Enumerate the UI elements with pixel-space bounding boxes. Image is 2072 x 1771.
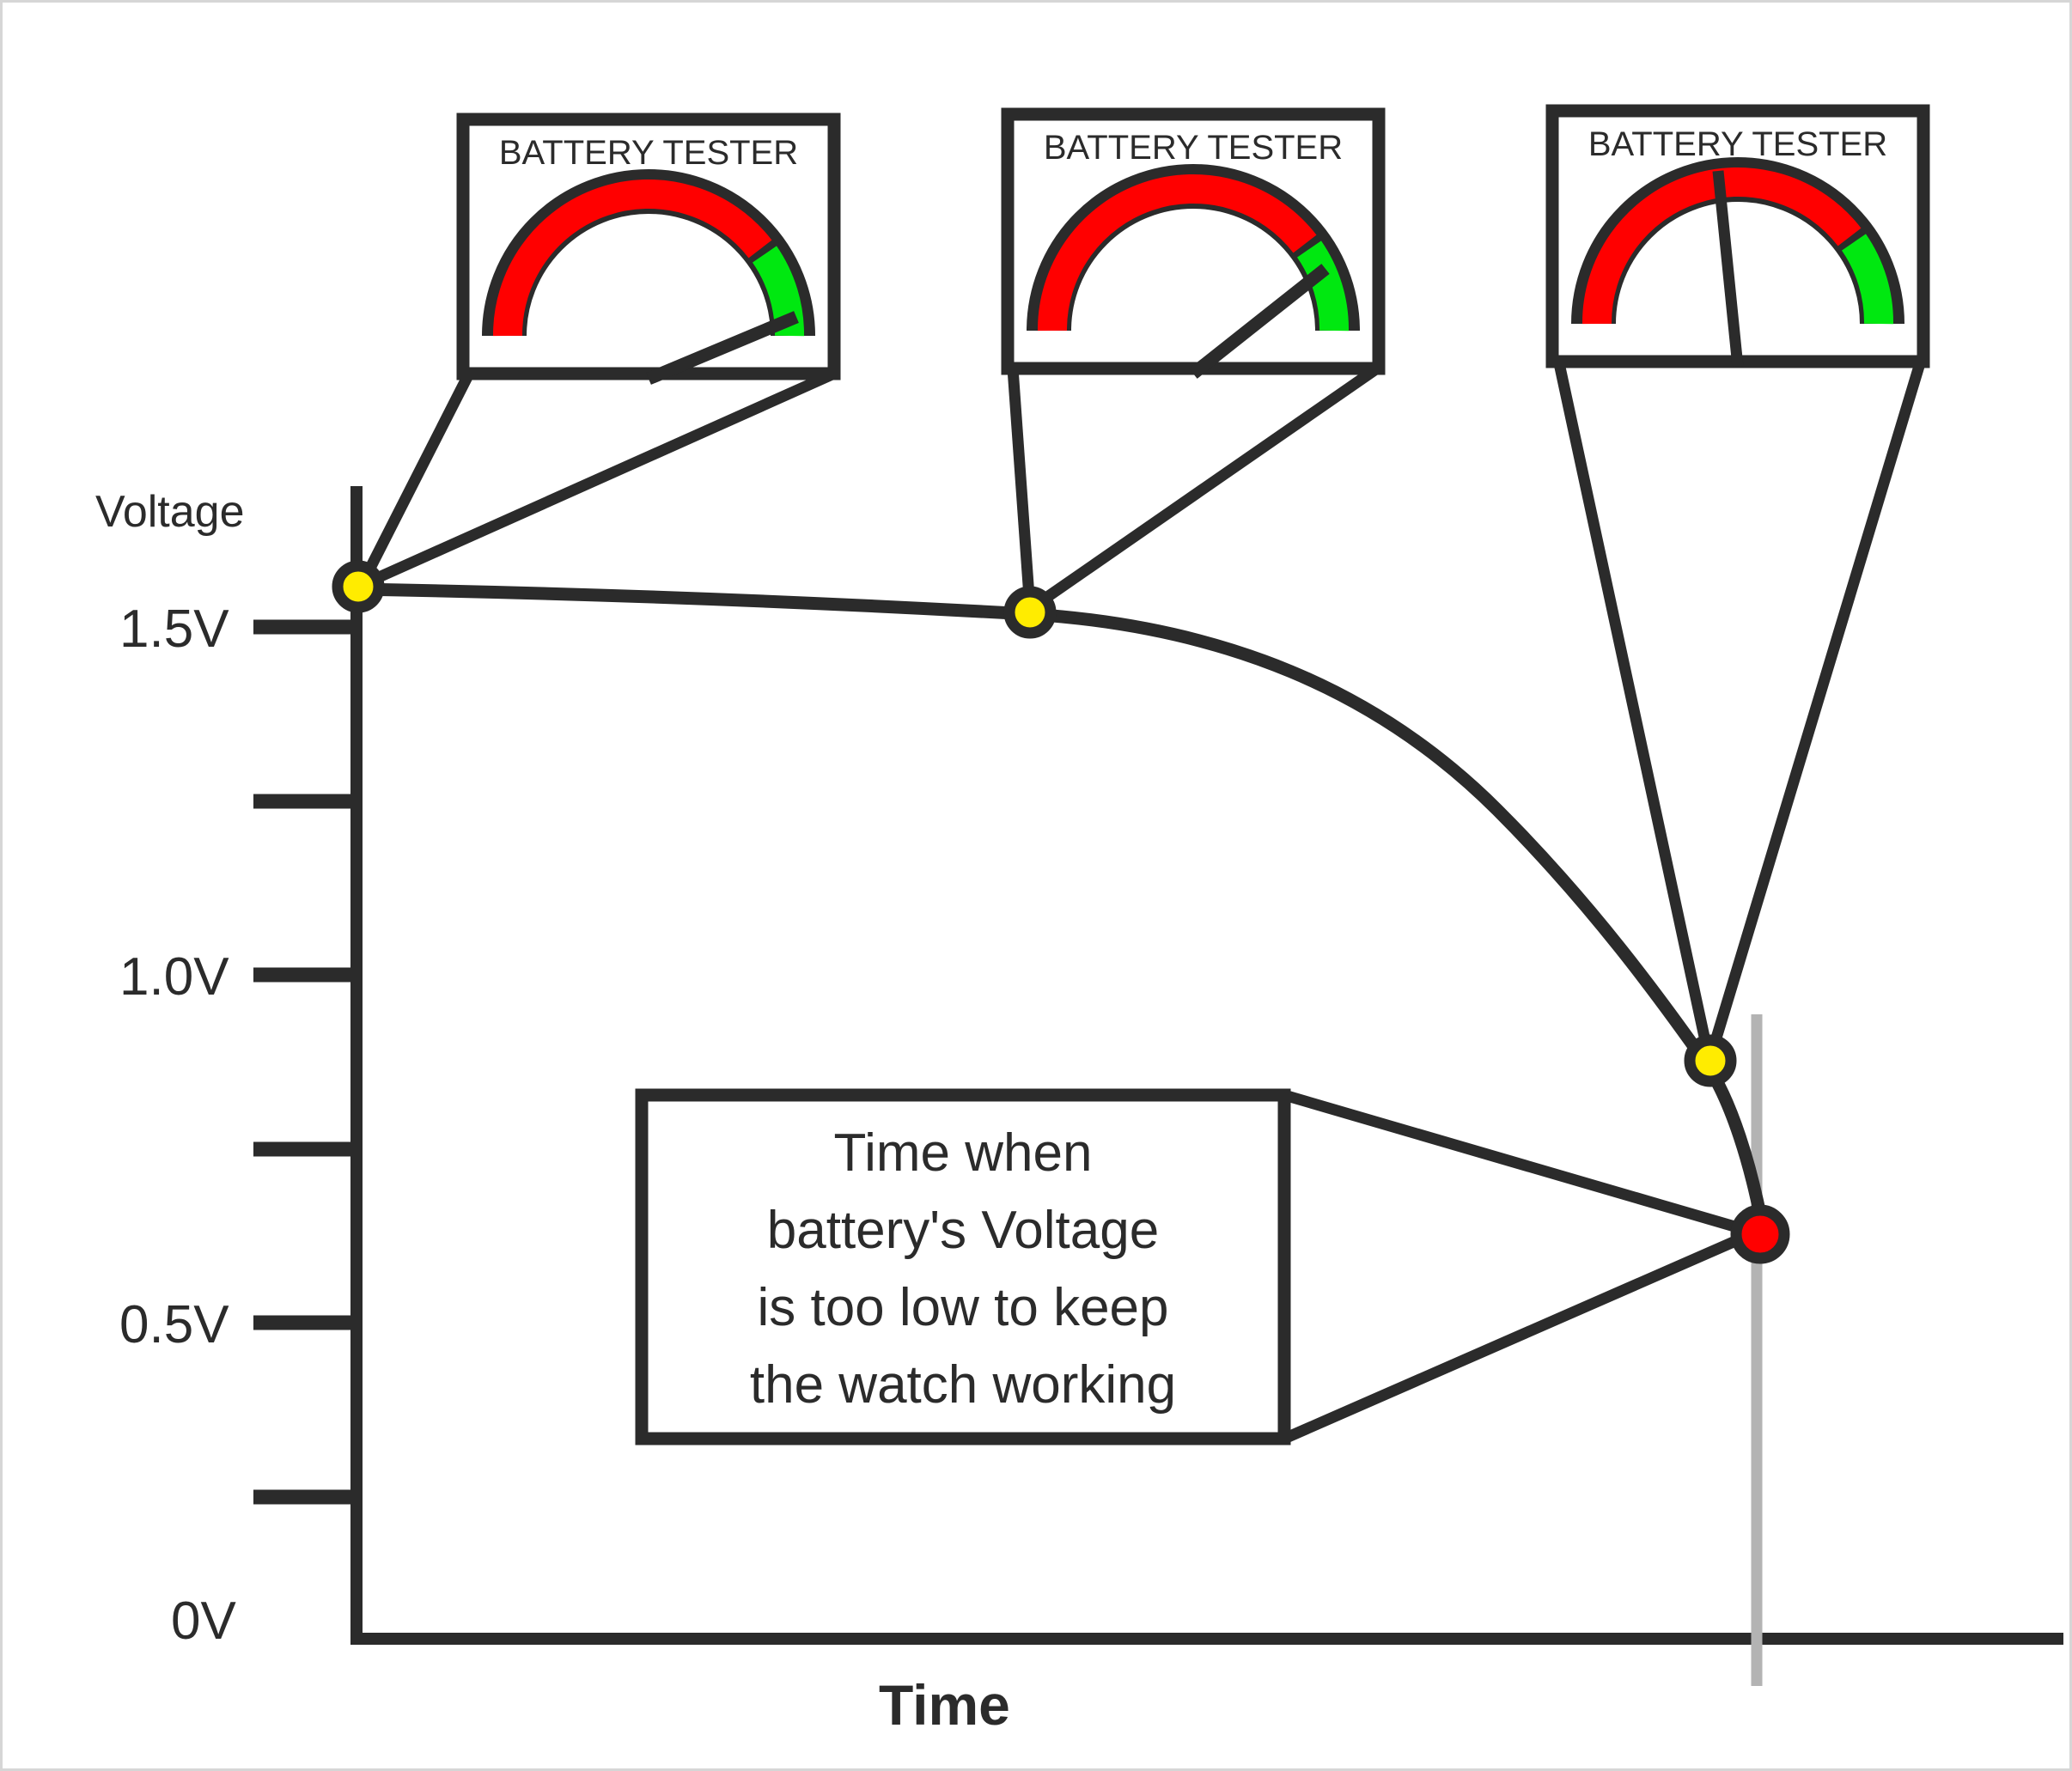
callout-line-4: the watch working bbox=[750, 1355, 1176, 1415]
gauge-2-leader-lines bbox=[1013, 368, 1377, 609]
axis-lines bbox=[357, 492, 2057, 1639]
callout-line-3: is too low to keep bbox=[757, 1278, 1168, 1337]
battery-tester-gauge-3: BATTERY TESTER bbox=[1552, 111, 1923, 367]
callout-line-2: battery's Voltage bbox=[767, 1201, 1159, 1260]
x-axis-title: Time bbox=[879, 1673, 1010, 1737]
battery-tester-gauge-2: BATTERY TESTER bbox=[1008, 114, 1379, 374]
callout-leader-bottom bbox=[1284, 1232, 1755, 1439]
y-tick-label-1p5: 1.5V bbox=[119, 599, 229, 659]
axis-group bbox=[253, 492, 2057, 1639]
gauge-2-leader-right bbox=[1030, 368, 1377, 609]
callout-leader-top bbox=[1284, 1095, 1755, 1232]
gauge-2-leader-left bbox=[1013, 368, 1030, 609]
gauge-1-title: BATTERY TESTER bbox=[499, 134, 798, 172]
battery-tester-gauge-1: BATTERY TESTER bbox=[463, 119, 834, 379]
gauge-3-leader-lines bbox=[1559, 363, 1920, 1061]
measurement-dot-1 bbox=[338, 566, 379, 607]
y-axis-label: Voltage bbox=[95, 487, 245, 537]
gauge-2-title: BATTERY TESTER bbox=[1044, 129, 1343, 167]
callout-leader-lines bbox=[1284, 1095, 1755, 1439]
measurement-dot-3 bbox=[1690, 1040, 1731, 1081]
gauge-1-leader-right bbox=[362, 374, 834, 585]
y-tick-label-1p0: 1.0V bbox=[119, 947, 229, 1007]
y-tick-label-0v: 0V bbox=[171, 1591, 236, 1651]
callout-line-1: Time when bbox=[834, 1123, 1093, 1183]
y-tick-label-0p5: 0.5V bbox=[119, 1295, 229, 1354]
diagram-canvas: Voltage 1.5V 1.0V 0.5V 0V Time bbox=[0, 0, 2072, 1771]
callout-box: Time when battery's Voltage is too low t… bbox=[642, 1095, 1284, 1439]
measurement-dot-2 bbox=[1009, 592, 1051, 633]
cutoff-dot bbox=[1736, 1210, 1784, 1258]
gauge-3-leader-right bbox=[1709, 363, 1920, 1061]
battery-discharge-figure: Voltage 1.5V 1.0V 0.5V 0V Time bbox=[3, 3, 2072, 1771]
gauge-1-leader-lines bbox=[362, 374, 834, 585]
gauge-1-leader-left bbox=[362, 374, 469, 585]
